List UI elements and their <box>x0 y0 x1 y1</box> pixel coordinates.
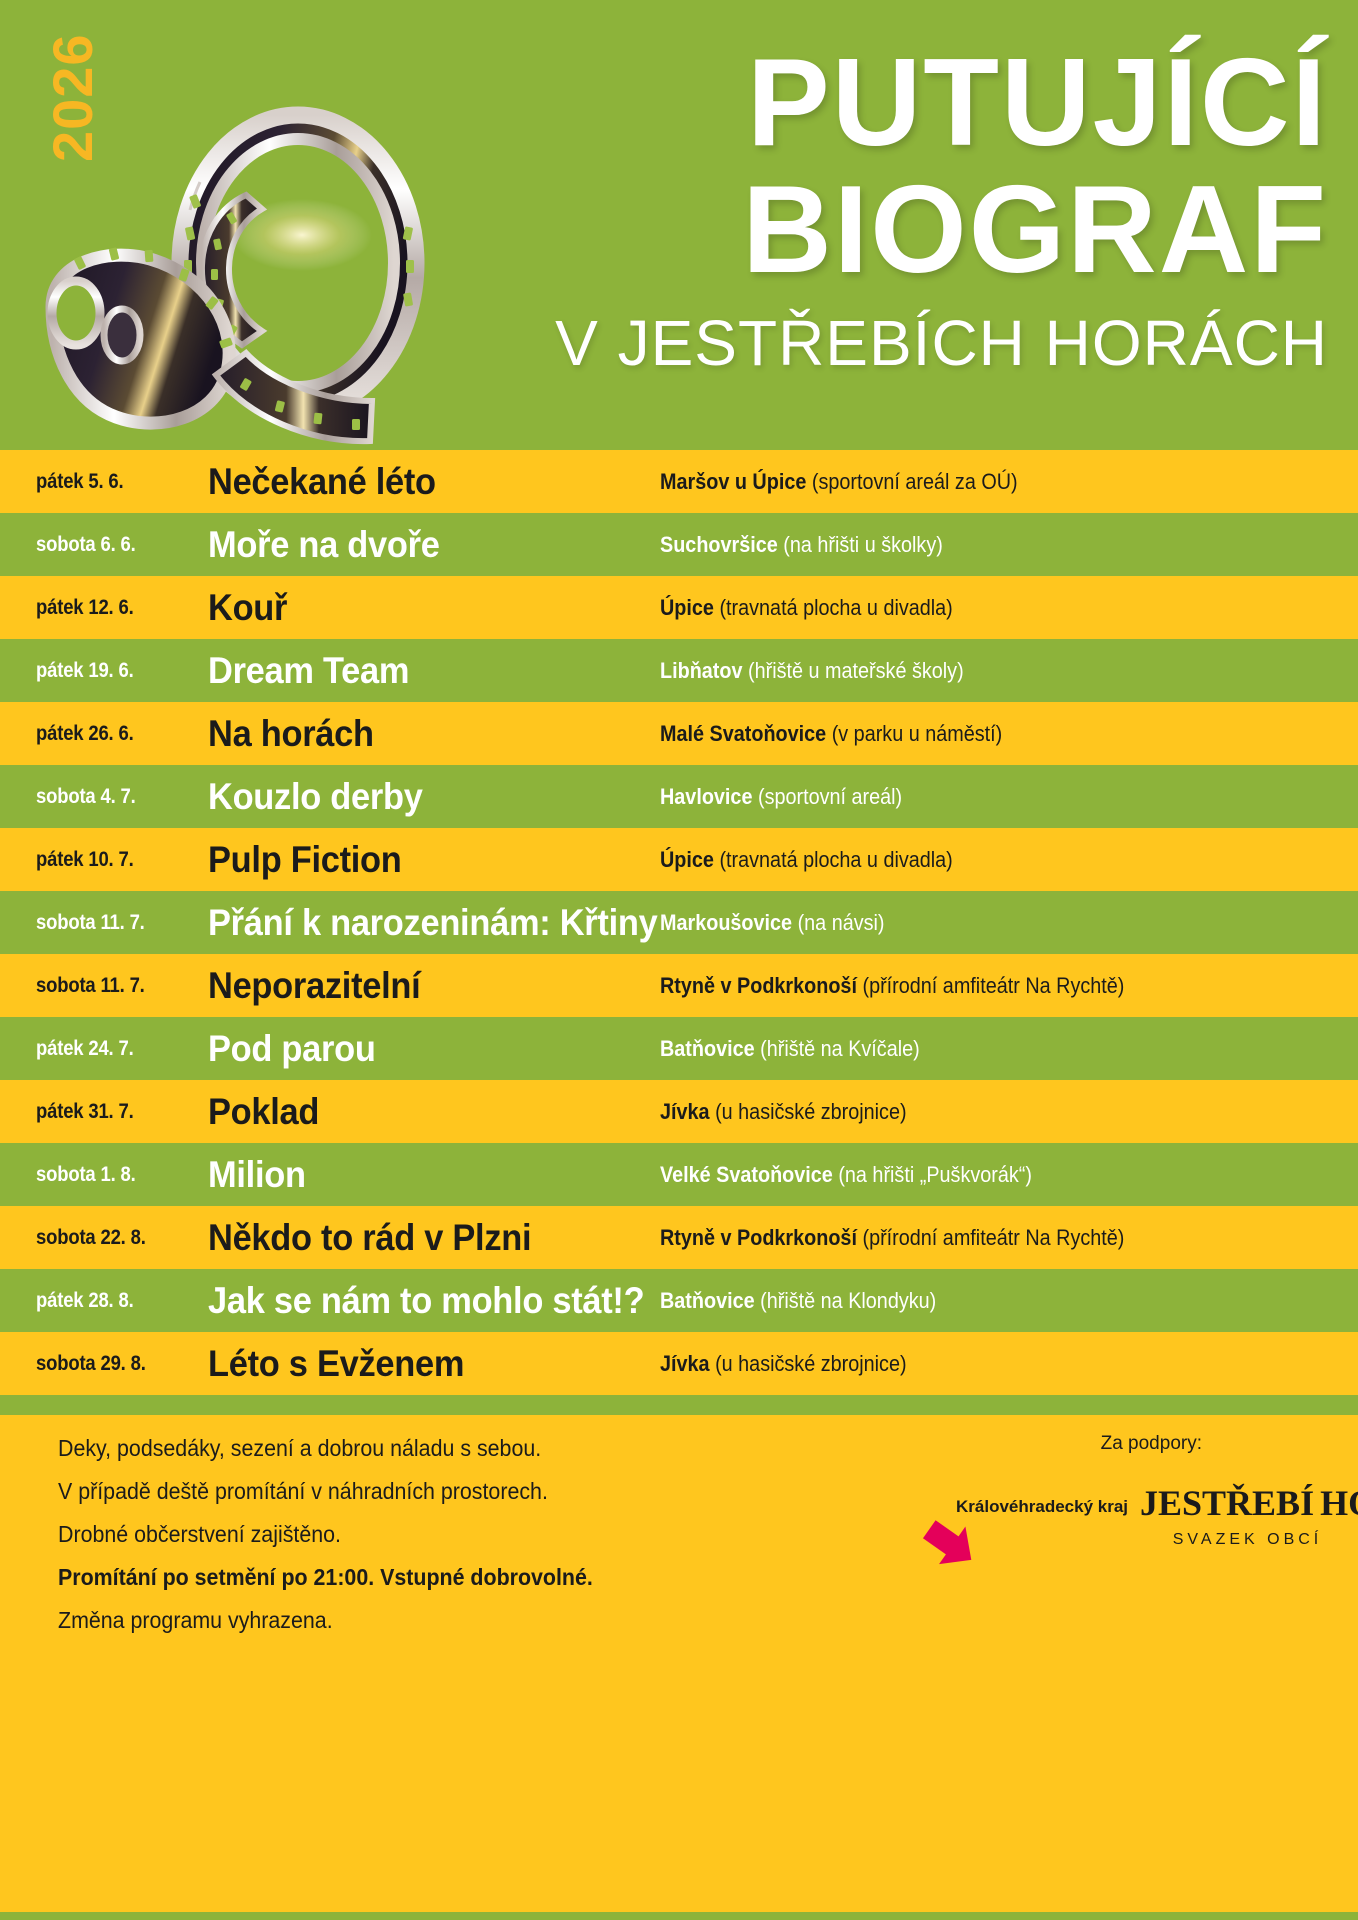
schedule-row: sobota 1. 8.MilionVelké Svatoňovice (na … <box>0 1143 1358 1206</box>
schedule-venue: Malé Svatoňovice (v parku u náměstí) <box>660 721 1281 747</box>
schedule-venue-place: Maršov u Úpice <box>660 469 806 494</box>
schedule-venue-detail: (sportovní areál za OÚ) <box>812 469 1018 494</box>
poster-footer: Deky, podsedáky, sezení a dobrou náladu … <box>0 1408 1358 1920</box>
footer-bottom-divider <box>0 1912 1358 1920</box>
schedule-date: sobota 6. 6. <box>36 533 187 557</box>
schedule-venue-place: Úpice <box>660 595 714 620</box>
schedule-row: sobota 11. 7.Přání k narozeninám: Křtiny… <box>0 891 1358 954</box>
logo-jh-subtitle: SVAZEK OBCÍ <box>1140 1531 1355 1549</box>
schedule-row: sobota 29. 8.Léto s EvženemJívka (u hasi… <box>0 1332 1358 1395</box>
footer-note: Promítání po setmění po 21:00. Vstupné d… <box>58 1566 635 1589</box>
schedule-row: sobota 11. 7.NeporazitelníRtyně v Podkrk… <box>0 954 1358 1017</box>
footer-note: Deky, podsedáky, sezení a dobrou náladu … <box>58 1437 635 1460</box>
schedule-venue-detail: (přírodní amfiteátr Na Rychtě) <box>862 1225 1124 1250</box>
footer-note: Změna programu vyhrazena. <box>58 1609 635 1632</box>
schedule-row: pátek 28. 8.Jak se nám to mohlo stát!?Ba… <box>0 1269 1358 1332</box>
schedule-row: pátek 12. 6.KouřÚpice (travnatá plocha u… <box>0 576 1358 639</box>
schedule-date: pátek 24. 7. <box>36 1037 187 1061</box>
support-section: Za podpory: <box>818 1433 1298 1455</box>
footer-notes: Deky, podsedáky, sezení a dobrou náladu … <box>58 1437 678 1652</box>
schedule-date: sobota 29. 8. <box>36 1352 187 1376</box>
schedule-date: pátek 12. 6. <box>36 596 187 620</box>
schedule-venue: Úpice (travnatá plocha u divadla) <box>660 847 1281 873</box>
schedule-venue: Rtyně v Podkrkonoší (přírodní amfiteátr … <box>660 973 1281 999</box>
schedule-venue-place: Havlovice <box>660 784 752 809</box>
schedule-venue-place: Libňatov <box>660 658 743 683</box>
schedule-venue-detail: (u hasičské zbrojnice) <box>715 1351 906 1376</box>
sponsor-logos: Královéhradecký kraj JESTŘEBÍHORY SVAZEK… <box>878 1467 1358 1617</box>
schedule-venue-detail: (na návsi) <box>798 910 885 935</box>
logo-jh-words: JESTŘEBÍHORY <box>1140 1485 1355 1521</box>
schedule-venue: Libňatov (hřiště u mateřské školy) <box>660 658 1281 684</box>
footer-note: Drobné občerstvení zajištěno. <box>58 1523 635 1546</box>
schedule-venue-place: Jívka <box>660 1099 710 1124</box>
schedule-venue-detail: (přírodní amfiteátr Na Rychtě) <box>862 973 1124 998</box>
schedule-venue: Batňovice (hřiště na Kvíčale) <box>660 1036 1281 1062</box>
schedule-venue: Maršov u Úpice (sportovní areál za OÚ) <box>660 469 1281 495</box>
page-title-line1: PUTUJÍCÍ <box>398 42 1328 165</box>
schedule-row: pátek 5. 6.Nečekané létoMaršov u Úpice (… <box>0 450 1358 513</box>
schedule-row: sobota 22. 8.Někdo to rád v PlzniRtyně v… <box>0 1206 1358 1269</box>
schedule-date: pátek 5. 6. <box>36 470 187 494</box>
schedule-venue-place: Rtyně v Podkrkonoší <box>660 973 857 998</box>
schedule-date: pátek 10. 7. <box>36 848 187 872</box>
schedule-venue: Velké Svatoňovice (na hřišti „Puškvorák“… <box>660 1162 1281 1188</box>
schedule-venue-place: Malé Svatoňovice <box>660 721 826 746</box>
schedule-date: pátek 31. 7. <box>36 1100 187 1124</box>
schedule-venue-place: Batňovice <box>660 1036 755 1061</box>
schedule-row: sobota 6. 6.Moře na dvořeSuchovršice (na… <box>0 513 1358 576</box>
schedule-venue-detail: (na hřišti „Puškvorák“) <box>838 1162 1032 1187</box>
schedule-venue-place: Úpice <box>660 847 714 872</box>
schedule-venue-detail: (na hřišti u školky) <box>783 532 943 557</box>
schedule-date: sobota 11. 7. <box>36 911 187 935</box>
page-subtitle: V JESTŘEBÍCH HORÁCH <box>398 306 1328 380</box>
schedule-venue-detail: (hřiště u mateřské školy) <box>748 658 964 683</box>
schedule-venue-place: Rtyně v Podkrkonoší <box>660 1225 857 1250</box>
logo-khk-label: Královéhradecký kraj <box>956 1497 1128 1517</box>
poster-header: 2026 <box>0 0 1358 450</box>
schedule-venue-detail: (travnatá plocha u divadla) <box>719 595 952 620</box>
schedule-venue: Markoušovice (na návsi) <box>660 910 1281 936</box>
schedule-date: sobota 1. 8. <box>36 1163 187 1187</box>
schedule-list: pátek 5. 6.Nečekané létoMaršov u Úpice (… <box>0 450 1358 1395</box>
film-reel-icon <box>10 45 430 445</box>
schedule-row: pátek 19. 6.Dream TeamLibňatov (hřiště u… <box>0 639 1358 702</box>
footer-note: V případě deště promítání v náhradních p… <box>58 1480 635 1503</box>
schedule-row: pátek 31. 7.PokladJívka (u hasičské zbro… <box>0 1080 1358 1143</box>
logo-jestrebi-hory: JESTŘEBÍHORY SVAZEK OBCÍ <box>1140 1485 1355 1605</box>
schedule-row: pátek 10. 7.Pulp FictionÚpice (travnatá … <box>0 828 1358 891</box>
schedule-venue: Batňovice (hřiště na Klondyku) <box>660 1288 1281 1314</box>
schedule-date: sobota 11. 7. <box>36 974 187 998</box>
schedule-venue: Rtyně v Podkrkonoší (přírodní amfiteátr … <box>660 1225 1281 1251</box>
schedule-venue: Úpice (travnatá plocha u divadla) <box>660 595 1281 621</box>
logo-kralovehradecky-kraj: Královéhradecký kraj <box>898 1497 1138 1607</box>
logo-jh-word1: JESTŘEBÍ <box>1140 1483 1314 1523</box>
schedule-date: sobota 22. 8. <box>36 1226 187 1250</box>
schedule-venue-detail: (u hasičské zbrojnice) <box>715 1099 906 1124</box>
schedule-date: sobota 4. 7. <box>36 785 187 809</box>
khk-arrow-icon <box>922 1517 978 1573</box>
schedule-row: sobota 4. 7.Kouzlo derbyHavlovice (sport… <box>0 765 1358 828</box>
schedule-venue-detail: (travnatá plocha u divadla) <box>719 847 952 872</box>
schedule-venue-place: Batňovice <box>660 1288 755 1313</box>
schedule-venue-place: Markoušovice <box>660 910 792 935</box>
schedule-venue-place: Velké Svatoňovice <box>660 1162 833 1187</box>
schedule-venue-place: Suchovršice <box>660 532 778 557</box>
schedule-venue: Suchovršice (na hřišti u školky) <box>660 532 1281 558</box>
schedule-date: pátek 19. 6. <box>36 659 187 683</box>
schedule-venue-detail: (sportovní areál) <box>758 784 902 809</box>
logo-jh-word2: HORY <box>1320 1485 1358 1521</box>
schedule-venue-place: Jívka <box>660 1351 710 1376</box>
page-title-line2: BIOGRAF <box>398 169 1328 292</box>
schedule-venue-detail: (hřiště na Kvíčale) <box>760 1036 920 1061</box>
schedule-venue-detail: (v parku u náměstí) <box>832 721 1003 746</box>
poster: 2026 <box>0 0 1358 1920</box>
support-label: Za podpory: <box>818 1433 1298 1455</box>
schedule-venue: Jívka (u hasičské zbrojnice) <box>660 1351 1281 1377</box>
schedule-row: pátek 24. 7.Pod parouBatňovice (hřiště n… <box>0 1017 1358 1080</box>
title-block: PUTUJÍCÍ BIOGRAF V JESTŘEBÍCH HORÁCH <box>398 42 1328 380</box>
schedule-date: pátek 28. 8. <box>36 1289 187 1313</box>
schedule-date: pátek 26. 6. <box>36 722 187 746</box>
schedule-venue: Havlovice (sportovní areál) <box>660 784 1281 810</box>
schedule-venue: Jívka (u hasičské zbrojnice) <box>660 1099 1281 1125</box>
schedule-venue-detail: (hřiště na Klondyku) <box>760 1288 936 1313</box>
schedule-row: pátek 26. 6.Na horáchMalé Svatoňovice (v… <box>0 702 1358 765</box>
